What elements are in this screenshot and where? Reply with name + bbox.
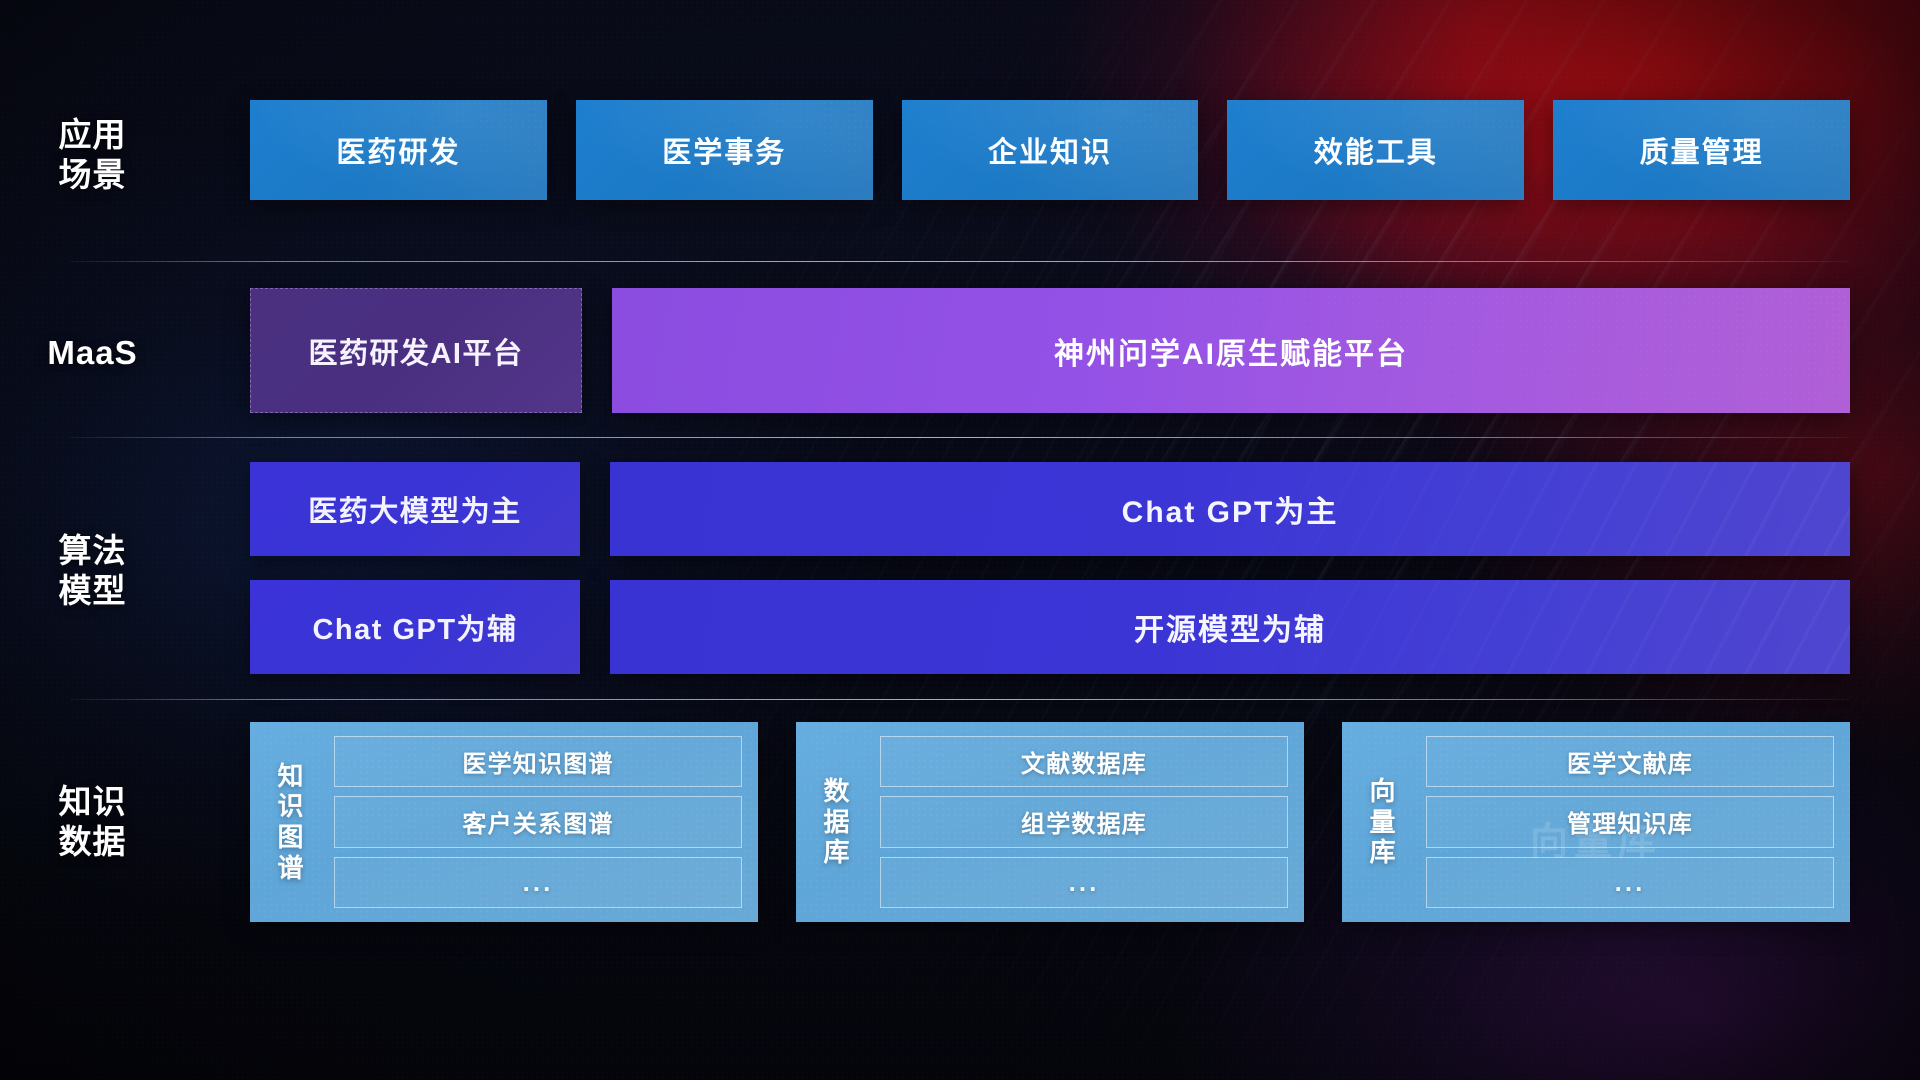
row-body-application-scenarios: 医药研发 医学事务 企业知识 效能工具 质量管理	[185, 100, 1920, 210]
app-box-label: 效能工具	[1314, 129, 1438, 171]
knowledge-item-medical-knowledge-graph[interactable]: 医学知识图谱	[334, 736, 742, 787]
algorithm-box-stack: 医药大模型为主 Chat GPT为主 Chat GPT为辅 开源模型为辅	[250, 462, 1850, 674]
diagram-stage: 应用 场景 医药研发 医学事务 企业知识 效能工具 质量管理 MaaS 医药研发…	[0, 0, 1920, 1080]
knowledge-item-list: 文献数据库 组学数据库 ...	[868, 732, 1290, 912]
diagram-content: 应用 场景 医药研发 医学事务 企业知识 效能工具 质量管理 MaaS 医药研发…	[0, 0, 1920, 1080]
knowledge-panel-category-label: 数 据 库	[806, 732, 868, 912]
algo-box-chatgpt-secondary[interactable]: Chat GPT为辅	[250, 580, 580, 674]
app-box-quality-management[interactable]: 质量管理	[1553, 100, 1850, 200]
algorithm-line-secondary: Chat GPT为辅 开源模型为辅	[250, 580, 1850, 674]
app-box-label: 医药研发	[336, 129, 460, 171]
category-char: 向	[1369, 776, 1396, 807]
category-char: 据	[823, 807, 850, 838]
app-box-efficiency-tools[interactable]: 效能工具	[1227, 100, 1524, 200]
app-box-drug-rd[interactable]: 医药研发	[250, 100, 547, 200]
knowledge-panel-category-label: 知 识 图 谱	[260, 732, 322, 912]
category-char: 图	[277, 822, 304, 853]
maas-box-label: 医药研发AI平台	[308, 330, 523, 372]
category-char: 库	[1369, 837, 1396, 868]
row-application-scenarios: 应用 场景 医药研发 医学事务 企业知识 效能工具 质量管理	[0, 100, 1920, 210]
knowledge-item-more[interactable]: ...	[880, 857, 1288, 908]
algorithm-line-primary: 医药大模型为主 Chat GPT为主	[250, 462, 1850, 556]
knowledge-item-management-knowledge-store[interactable]: 管理知识库	[1426, 796, 1834, 847]
maas-box-grid: 医药研发AI平台 神州问学AI原生赋能平台	[250, 288, 1850, 413]
knowledge-panel-knowledge-graph[interactable]: 知 识 图 谱 医学知识图谱 客户关系图谱 ...	[250, 722, 758, 922]
category-char: 识	[277, 791, 304, 822]
divider-maas-algorithm	[70, 437, 1850, 438]
app-box-label: 医学事务	[662, 129, 786, 171]
row-maas: MaaS 医药研发AI平台 神州问学AI原生赋能平台	[0, 288, 1920, 418]
knowledge-panel-vector-store[interactable]: 向量库 向 量 库 医学文献库 管理知识库 ...	[1342, 722, 1850, 922]
row-label-algorithm-models: 算法 模型	[0, 531, 185, 612]
knowledge-panel-category-label: 向 量 库	[1352, 732, 1414, 912]
algo-box-label: Chat GPT为辅	[312, 606, 517, 648]
row-label-maas: MaaS	[0, 333, 185, 373]
category-char: 知	[277, 761, 304, 792]
knowledge-panel-grid: 知 识 图 谱 医学知识图谱 客户关系图谱 ...	[250, 722, 1850, 922]
app-box-label: 企业知识	[988, 129, 1112, 171]
row-knowledge-data: 知识 数据 知 识 图 谱 医学知识图谱 客户关系图谱	[0, 722, 1920, 922]
application-box-grid: 医药研发 医学事务 企业知识 效能工具 质量管理	[250, 100, 1850, 200]
divider-algorithm-knowledge	[70, 699, 1850, 700]
maas-box-label: 神州问学AI原生赋能平台	[1054, 329, 1408, 373]
row-body-algorithm-models: 医药大模型为主 Chat GPT为主 Chat GPT为辅 开源模型为辅	[185, 462, 1920, 680]
algo-box-label: 开源模型为辅	[1134, 605, 1326, 649]
app-box-enterprise-knowledge[interactable]: 企业知识	[902, 100, 1199, 200]
row-algorithm-models: 算法 模型 医药大模型为主 Chat GPT为主 Chat GPT为辅 开源模型…	[0, 462, 1920, 680]
knowledge-panel-database[interactable]: 数 据 库 文献数据库 组学数据库 ...	[796, 722, 1304, 922]
knowledge-item-omics-database[interactable]: 组学数据库	[880, 796, 1288, 847]
maas-box-drug-rd-ai-platform[interactable]: 医药研发AI平台	[250, 288, 582, 413]
algo-box-pharma-llm-primary[interactable]: 医药大模型为主	[250, 462, 580, 556]
row-label-application-scenarios: 应用 场景	[0, 115, 185, 196]
category-char: 库	[823, 837, 850, 868]
row-label-knowledge-data: 知识 数据	[0, 782, 185, 863]
knowledge-item-list: 医学文献库 管理知识库 ...	[1414, 732, 1836, 912]
row-body-maas: 医药研发AI平台 神州问学AI原生赋能平台	[185, 288, 1920, 418]
algo-box-label: 医药大模型为主	[308, 488, 522, 530]
knowledge-item-more[interactable]: ...	[1426, 857, 1834, 908]
app-box-label: 质量管理	[1640, 129, 1764, 171]
category-char: 量	[1369, 807, 1396, 838]
algo-box-chatgpt-primary[interactable]: Chat GPT为主	[610, 462, 1850, 556]
algo-box-label: Chat GPT为主	[1122, 487, 1339, 531]
algo-box-opensource-secondary[interactable]: 开源模型为辅	[610, 580, 1850, 674]
knowledge-item-more[interactable]: ...	[334, 857, 742, 908]
divider-application-maas	[70, 261, 1850, 262]
knowledge-item-literature-database[interactable]: 文献数据库	[880, 736, 1288, 787]
maas-box-shenzhou-wenxue-platform[interactable]: 神州问学AI原生赋能平台	[612, 288, 1850, 413]
row-body-knowledge-data: 知 识 图 谱 医学知识图谱 客户关系图谱 ...	[185, 722, 1920, 922]
knowledge-item-medical-literature-store[interactable]: 医学文献库	[1426, 736, 1834, 787]
app-box-medical-affairs[interactable]: 医学事务	[576, 100, 873, 200]
knowledge-item-customer-relation-graph[interactable]: 客户关系图谱	[334, 796, 742, 847]
category-char: 数	[823, 776, 850, 807]
category-char: 谱	[277, 853, 304, 884]
knowledge-item-list: 医学知识图谱 客户关系图谱 ...	[322, 732, 744, 912]
